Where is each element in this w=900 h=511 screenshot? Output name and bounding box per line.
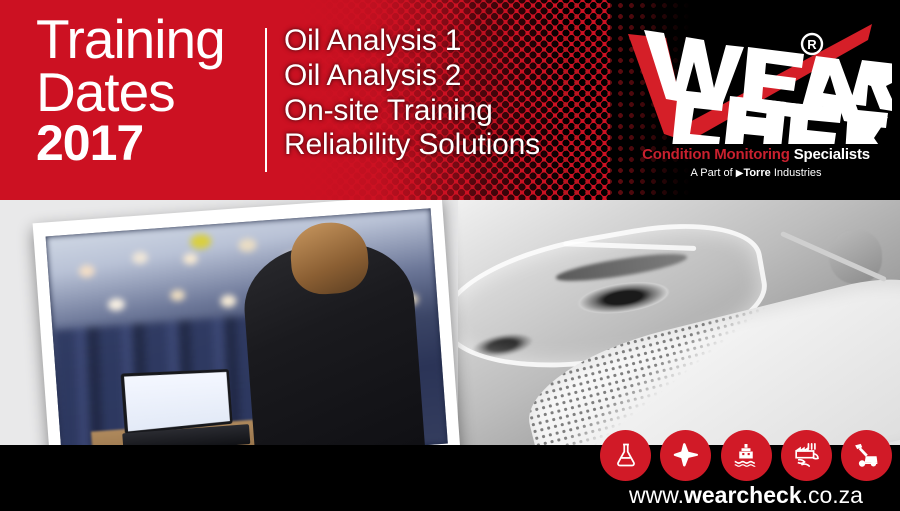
banner-header: Training Dates 2017 Oil Analysis 1 Oil A… bbox=[0, 0, 900, 200]
banner-body: www.wearcheck.co.za bbox=[0, 200, 900, 511]
url-prefix: www. bbox=[629, 482, 684, 508]
wearcheck-logo-mark: R bbox=[620, 16, 892, 144]
laptop-shape bbox=[118, 366, 251, 453]
title-line-training: Training bbox=[36, 14, 251, 65]
parent-prefix: A Part of bbox=[690, 167, 732, 179]
course-item-reliability-solutions: Reliability Solutions bbox=[284, 128, 540, 163]
wearcheck-logo: R Condition Monitoring Specialists A Par… bbox=[620, 16, 892, 188]
logo-tagline: Condition Monitoring Specialists bbox=[620, 146, 892, 163]
industry-icon-row bbox=[600, 428, 892, 482]
course-item-on-site-training: On-site Training bbox=[284, 94, 540, 129]
title-year: 2017 bbox=[36, 120, 251, 166]
flask-icon[interactable] bbox=[600, 430, 651, 481]
parent-suffix: Industries bbox=[774, 167, 822, 179]
airplane-icon[interactable] bbox=[660, 430, 711, 481]
page-title: Training Dates 2017 bbox=[36, 14, 251, 166]
parent-brand: Torre bbox=[743, 167, 770, 179]
ship-icon[interactable] bbox=[721, 430, 772, 481]
glasses-arm bbox=[563, 241, 696, 251]
tagline-specialists: Specialists bbox=[794, 146, 870, 163]
website-url[interactable]: www.wearcheck.co.za bbox=[600, 482, 892, 509]
url-brand: wearcheck bbox=[684, 482, 802, 508]
svg-text:R: R bbox=[807, 37, 817, 52]
laptop-screen bbox=[120, 369, 232, 435]
course-item-oil-analysis-1: Oil Analysis 1 bbox=[284, 24, 540, 59]
tagline-condition-monitoring: Condition Monitoring bbox=[642, 146, 790, 163]
training-dates-banner: Training Dates 2017 Oil Analysis 1 Oil A… bbox=[0, 0, 900, 511]
vertical-divider bbox=[265, 28, 267, 172]
factory-icon[interactable] bbox=[781, 430, 832, 481]
title-line-dates: Dates bbox=[36, 67, 251, 118]
safety-worker-photo bbox=[458, 200, 900, 447]
course-item-oil-analysis-2: Oil Analysis 2 bbox=[284, 59, 540, 94]
mining-loader-icon[interactable] bbox=[841, 430, 892, 481]
url-suffix: .co.za bbox=[802, 482, 863, 508]
parent-company-line: A Part of ▶Torre Industries bbox=[620, 167, 892, 179]
conference-photo bbox=[46, 208, 448, 472]
course-list: Oil Analysis 1 Oil Analysis 2 On-site Tr… bbox=[284, 24, 540, 163]
safety-worker-photo-content bbox=[458, 200, 900, 447]
